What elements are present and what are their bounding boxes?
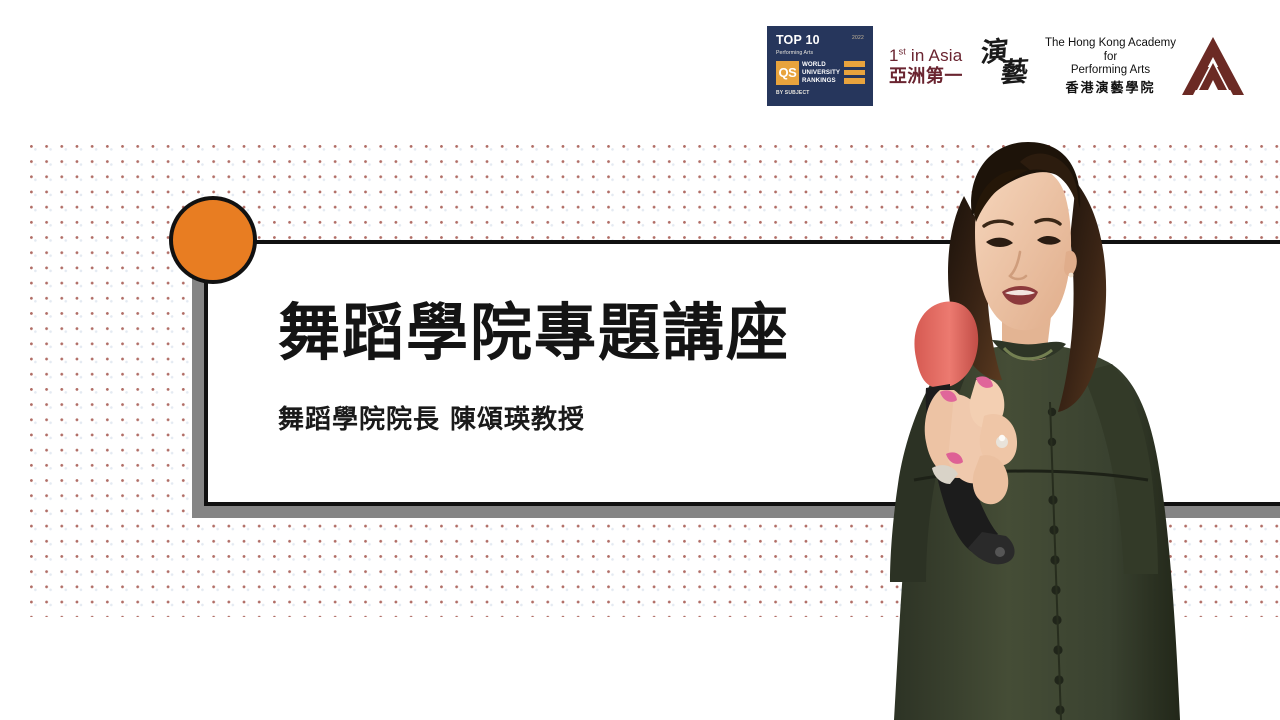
qs-year: 2022 bbox=[852, 35, 864, 41]
qs-rankings-badge: TOP 10 2022 Performing Arts QS WORLD UNI… bbox=[767, 26, 873, 106]
qs-mark-icon: QS bbox=[776, 61, 799, 85]
slide-text-block: 舞蹈學院專題講座 舞蹈學院院長 陳頌瑛教授 bbox=[278, 300, 790, 436]
qs-word-rankings: RANKINGS bbox=[802, 77, 842, 84]
asia-rank-chinese: 亞洲第一 bbox=[889, 66, 963, 86]
qs-word-world: WORLD bbox=[802, 61, 842, 68]
academy-name-line-2: for bbox=[1045, 51, 1176, 65]
presenter-photo bbox=[880, 112, 1210, 720]
academy-name-chinese: 香港演藝學院 bbox=[1045, 80, 1176, 95]
presentation-slide: TOP 10 2022 Performing Arts QS WORLD UNI… bbox=[0, 0, 1280, 720]
asia-rank-suffix: st bbox=[899, 46, 906, 56]
qs-word-stack: WORLD UNIVERSITY RANKINGS bbox=[802, 61, 865, 85]
asia-rank-english: 1st in Asia bbox=[889, 46, 963, 65]
page-subtitle: 舞蹈學院院長 陳頌瑛教授 bbox=[278, 399, 790, 436]
apa-triangle-mark-icon bbox=[1182, 37, 1244, 95]
academy-calligraphy-char-2: 藝 bbox=[999, 58, 1029, 86]
qs-bar-icon bbox=[844, 70, 865, 76]
qs-by-subject-label: BY SUBJECT bbox=[776, 90, 865, 96]
qs-word-row: WORLD bbox=[802, 61, 865, 68]
qs-logo-row: QS WORLD UNIVERSITY RANKINGS bbox=[776, 61, 865, 85]
presenter-illustration-icon bbox=[880, 112, 1210, 720]
frame-shadow-left bbox=[192, 265, 204, 518]
qs-word-row: UNIVERSITY bbox=[802, 69, 865, 76]
asia-rank-block: 1st in Asia 亞洲第一 bbox=[887, 46, 967, 86]
page-title: 舞蹈學院專題講座 bbox=[278, 300, 790, 367]
academy-name-line-3: Performing Arts bbox=[1045, 64, 1176, 78]
academy-name-line-1: The Hong Kong Academy bbox=[1045, 37, 1176, 51]
academy-logo-lockup: 演 藝 The Hong Kong Academy for Performing… bbox=[981, 35, 1244, 97]
qs-word-university: UNIVERSITY bbox=[802, 69, 842, 76]
orange-circle-node-icon bbox=[169, 196, 257, 284]
qs-bar-icon bbox=[844, 78, 865, 84]
asia-rank-rest: in Asia bbox=[906, 46, 962, 65]
logo-bar: TOP 10 2022 Performing Arts QS WORLD UNI… bbox=[767, 22, 1244, 110]
asia-rank-number: 1 bbox=[889, 46, 899, 65]
academy-name-block: The Hong Kong Academy for Performing Art… bbox=[1045, 37, 1176, 95]
qs-word-row: RANKINGS bbox=[802, 77, 865, 84]
qs-bar-icon bbox=[844, 61, 865, 67]
qs-subject-label: Performing Arts bbox=[776, 50, 865, 56]
academy-calligraphy-icon: 演 藝 bbox=[981, 35, 1039, 97]
